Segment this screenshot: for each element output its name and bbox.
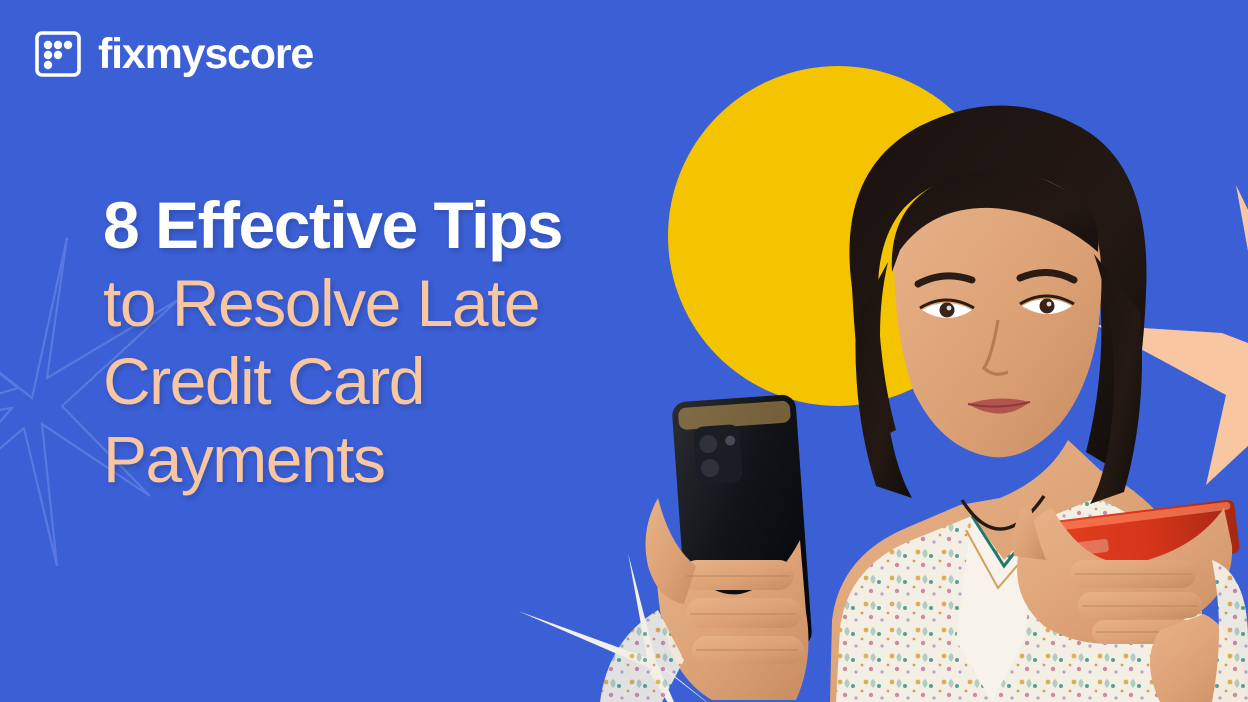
headline-line-2: to Resolve Late (103, 264, 703, 342)
headline-line-3: Credit Card (103, 342, 703, 420)
site-logo[interactable]: fixmyscore (34, 30, 313, 78)
page-title: 8 Effective Tips to Resolve Late Credit … (103, 186, 703, 498)
site-logo-wordmark: fixmyscore (98, 33, 313, 76)
fixmyscore-dots-mark-icon (34, 30, 82, 78)
headline-line-4: Payments (103, 420, 703, 498)
headline-line-1: 8 Effective Tips (103, 186, 703, 264)
blog-hero-banner: fixmyscore 8 Effective Tips to Resolve L… (0, 0, 1248, 702)
